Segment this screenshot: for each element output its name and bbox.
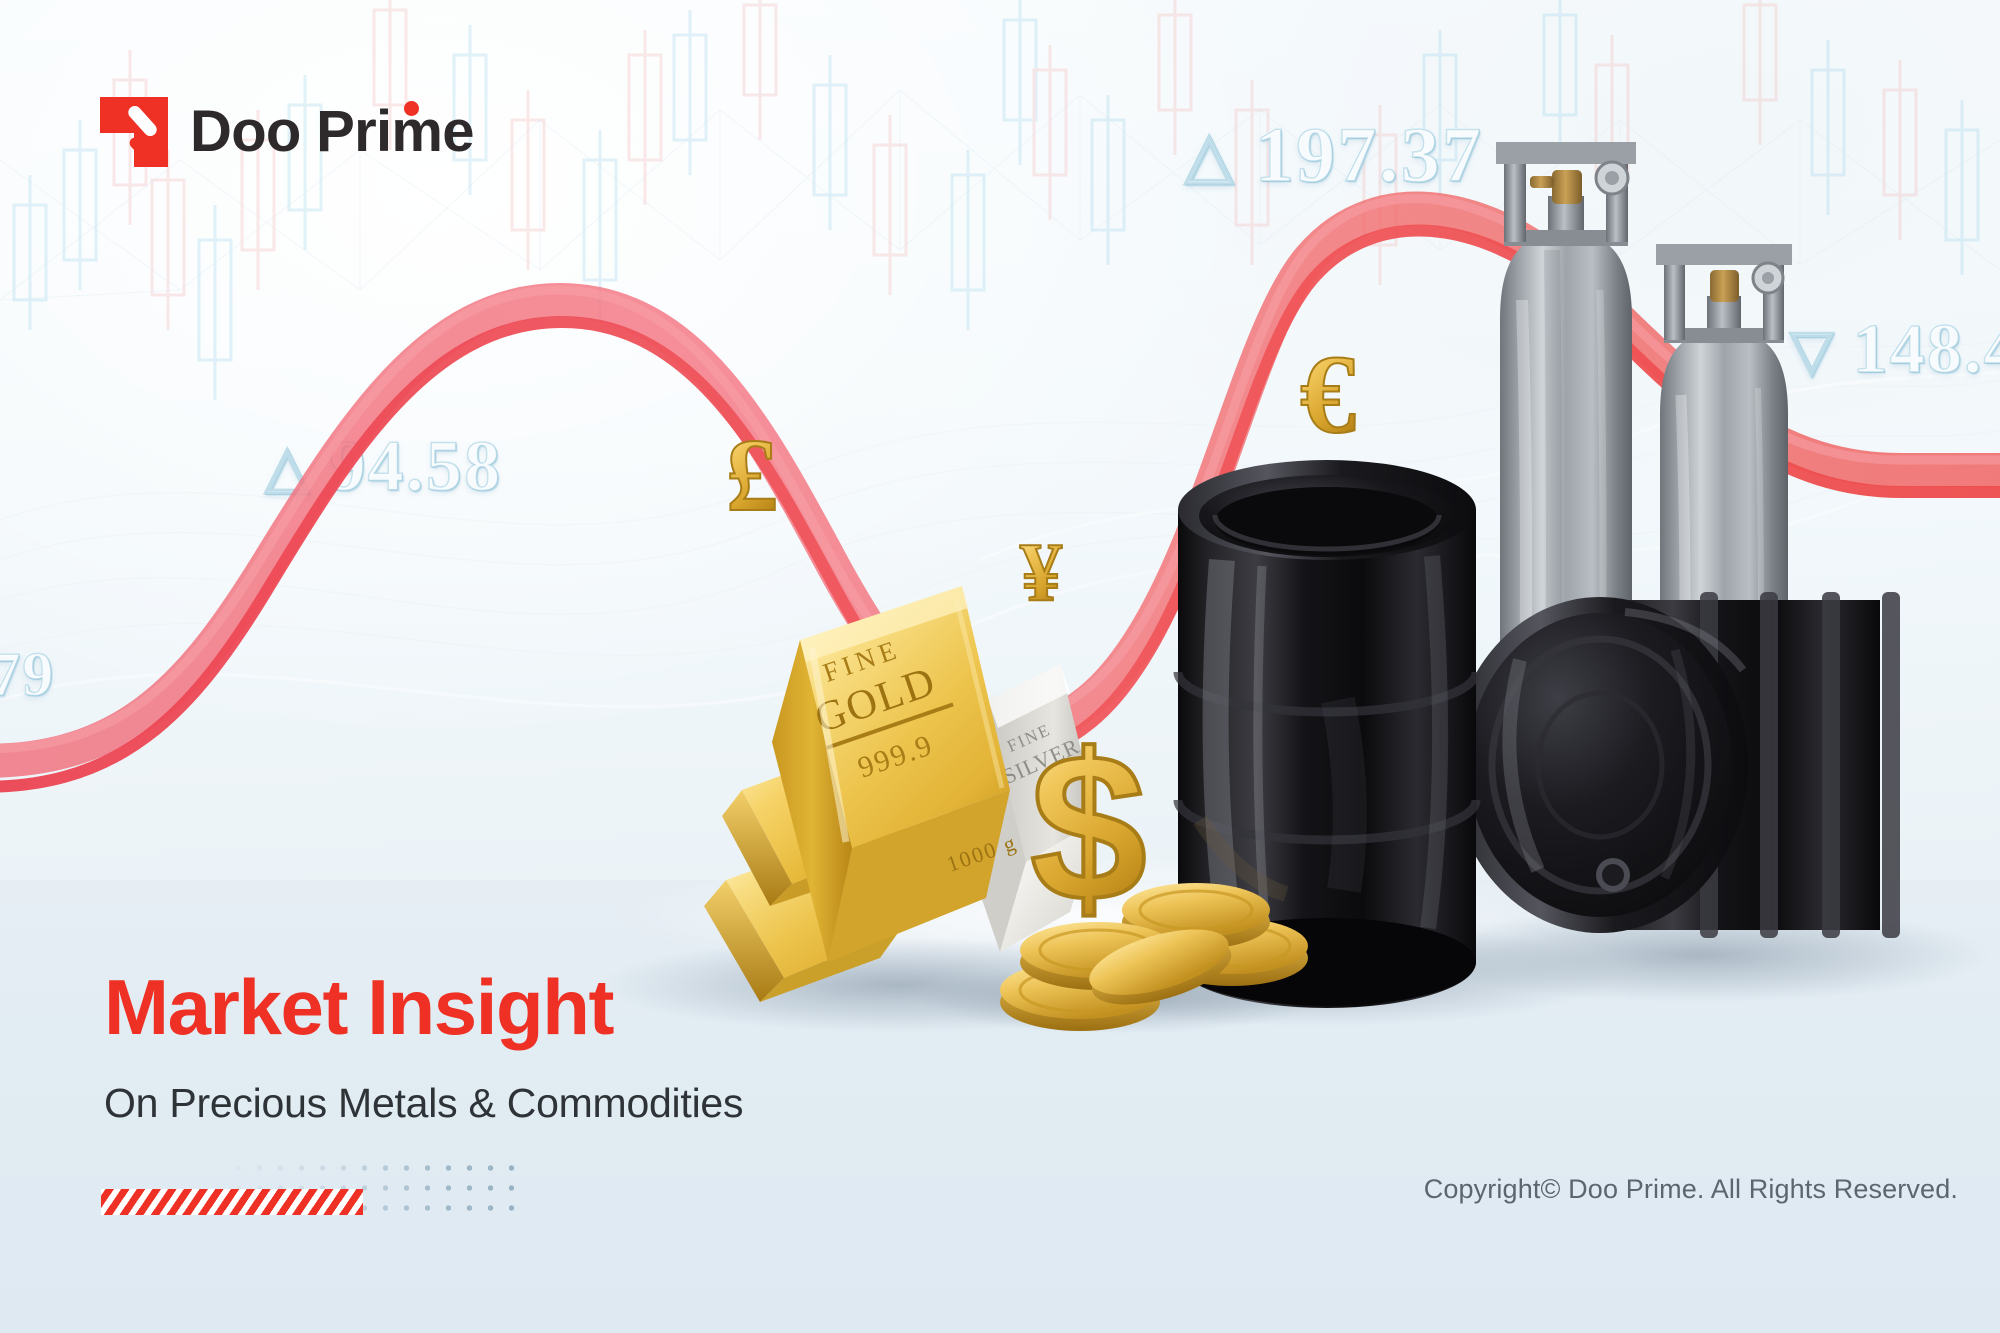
brand-wordmark: Doo Prime [190,103,474,161]
market-insight-banner: △ 197.37 △ 94.58 ▽ 148.48 .79 [0,0,2000,1333]
copyright-notice: Copyright© Doo Prime. All Rights Reserve… [1424,1174,1958,1205]
brand-accent-dot [404,101,419,116]
brand-logo[interactable]: Doo Prime [100,97,474,167]
decorative-hatch-bar [101,1189,363,1215]
page-subtitle: On Precious Metals & Commodities [104,1083,743,1124]
oil-barrel-right [1452,592,1900,938]
page-title: Market Insight [104,968,613,1046]
brand-wordmark-text: Doo Prime [190,99,474,164]
currency-symbol-pound: £ [726,418,778,533]
yen-symbol-glyph: ¥ [1020,526,1062,619]
dollar-symbol-glyph: $ [1030,710,1147,945]
pound-symbol-glyph: £ [726,418,778,533]
commodities-3d-scene: FINE SILVER FINE [0,0,2000,1333]
currency-symbol-yen: ¥ [1020,526,1062,619]
currency-symbol-dollar: $ [1030,710,1147,945]
currency-symbol-euro: € [1300,333,1356,457]
doo-prime-logo-mark-icon [100,97,168,167]
euro-symbol-glyph: € [1300,333,1356,457]
